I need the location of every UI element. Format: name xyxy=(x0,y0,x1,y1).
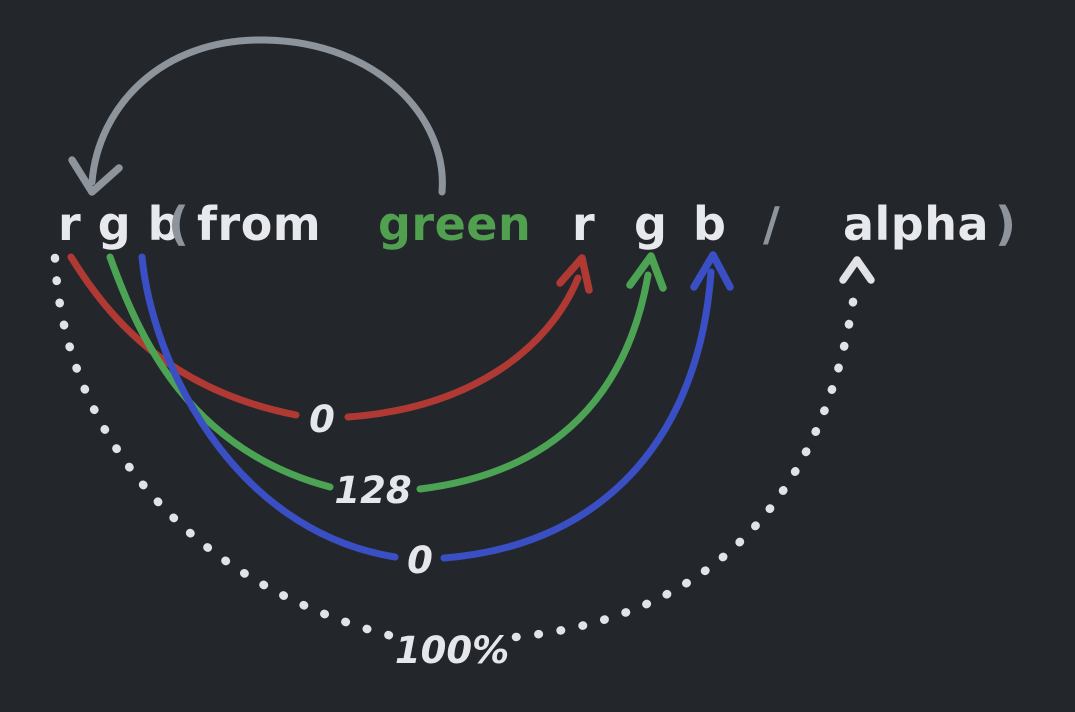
green-channel-label: 128 xyxy=(334,469,411,512)
syntax-line: r g b ( from green r g b / alpha ) xyxy=(58,197,1017,251)
blue-channel-curve-right xyxy=(444,272,711,558)
blue-channel-label: 0 xyxy=(407,539,433,582)
token-channel-g[interactable]: g xyxy=(634,197,667,251)
token-func-rgb[interactable]: r g b xyxy=(58,197,181,251)
alpha-channel-arrowhead xyxy=(843,260,871,280)
red-channel-label: 0 xyxy=(309,398,335,441)
token-origin-color[interactable]: green xyxy=(378,197,531,251)
token-paren-open: ( xyxy=(168,197,190,251)
red-channel-curve-right xyxy=(348,278,578,417)
alpha-channel-curve: 100% xyxy=(55,258,871,672)
token-channel-alpha[interactable]: alpha xyxy=(843,197,989,251)
green-to-rgb-arc xyxy=(72,40,442,192)
token-channel-r[interactable]: r xyxy=(572,197,595,251)
alpha-channel-curve-left xyxy=(55,258,392,636)
relative-color-syntax-diagram: 0 128 0 100% r g b ( from green xyxy=(0,0,1075,712)
alpha-channel-label: 100% xyxy=(395,629,509,672)
alpha-channel-curve-right xyxy=(516,282,856,637)
green-channel-curve: 128 xyxy=(110,256,663,512)
diagram-canvas: 0 128 0 100% r g b ( from green xyxy=(0,0,1075,712)
token-slash: / xyxy=(763,197,780,251)
token-channel-b[interactable]: b xyxy=(693,197,726,251)
green-channel-curve-right xyxy=(420,275,648,489)
green-to-rgb-arc-path xyxy=(92,40,442,192)
token-keyword-from[interactable]: from xyxy=(197,197,321,251)
token-paren-close: ) xyxy=(995,197,1017,251)
